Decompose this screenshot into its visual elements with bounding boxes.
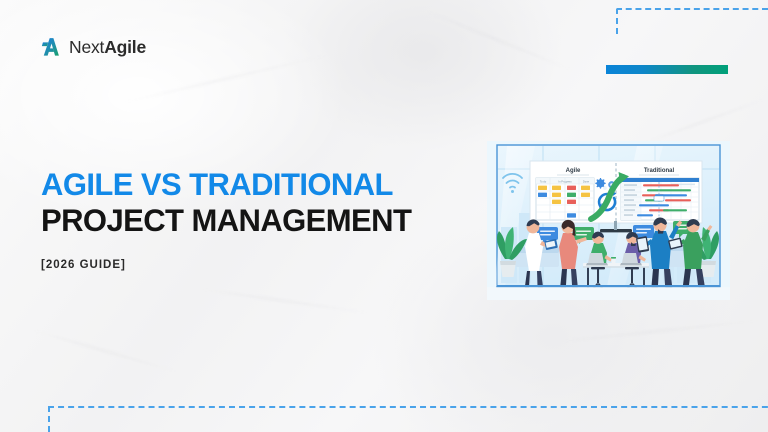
brand-logo[interactable]: NextAgile [40, 36, 146, 58]
brand-name-part2: Agile [104, 37, 146, 57]
svg-text:In Progress: In Progress [558, 179, 572, 183]
board-label-traditional: Traditional [644, 168, 675, 174]
texture-vein [33, 329, 178, 372]
headline-line-1: AGILE VS TRADITIONAL [41, 166, 411, 202]
guide-kicker: [2026 GUIDE] [41, 259, 126, 271]
slide-canvas: NextAgile AGILE VS TRADITIONAL PROJECT M… [0, 0, 768, 432]
accent-gradient-bar [606, 65, 728, 74]
headline-line-2: PROJECT MANAGEMENT [41, 202, 411, 238]
svg-text:Done: Done [583, 179, 590, 183]
dashed-corner-bottom-left [48, 406, 768, 432]
page-title: AGILE VS TRADITIONAL PROJECT MANAGEMENT [41, 166, 417, 238]
svg-text:To do: To do [540, 179, 547, 183]
brand-name-part1: Next [69, 37, 104, 57]
dashed-corner-top-right [616, 8, 768, 34]
gantt-board [621, 178, 699, 220]
texture-vein [425, 10, 574, 72]
texture-vein [122, 54, 327, 103]
texture-vein [560, 320, 759, 343]
nextagile-arrow-mark-icon [40, 36, 62, 58]
texture-vein [644, 98, 767, 144]
board-label-agile: Agile [566, 168, 581, 174]
texture-vein [201, 288, 370, 314]
brand-name: NextAgile [69, 37, 146, 58]
kanban-board: To do In Progress Done [536, 178, 594, 220]
hero-illustration: Agile Traditional To do In Progress Done [487, 141, 730, 300]
